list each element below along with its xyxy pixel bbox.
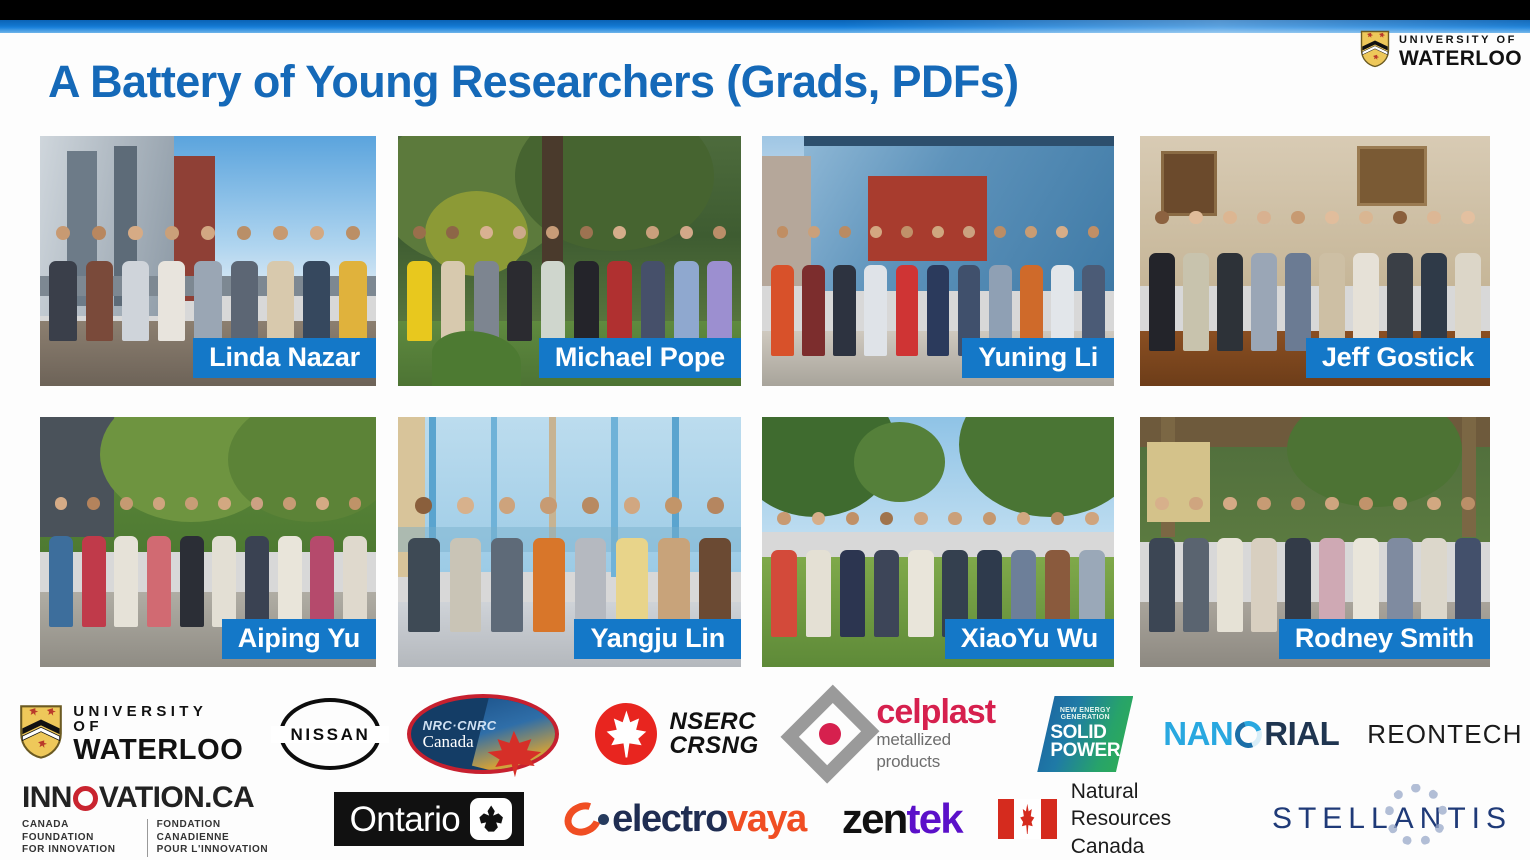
photo-name-label: Rodney Smith bbox=[1279, 619, 1490, 659]
photo-tile-rodney-smith[interactable]: Rodney Smith bbox=[1140, 417, 1490, 667]
photo-tile-yuning-li[interactable]: Yuning Li bbox=[762, 136, 1114, 386]
sponsor-logo-electrovaya: electro vaya bbox=[546, 782, 824, 856]
photo-tile-yangju-lin[interactable]: Yangju Lin bbox=[398, 417, 741, 667]
canada-flag-icon bbox=[998, 799, 1057, 839]
sponsor-solidpower-tagline: NEW ENERGY GENERATION bbox=[1037, 707, 1133, 722]
sponsor-zentek-part2: tek bbox=[907, 795, 962, 842]
waterloo-shield-icon bbox=[19, 704, 63, 765]
sponsor-logo-nanorial: NAN RIAL bbox=[1149, 688, 1353, 780]
photo-tile-linda-nazar[interactable]: Linda Nazar bbox=[40, 136, 376, 386]
sponsor-logo-natural-resources-canada: Natural Resources Canada bbox=[980, 782, 1254, 856]
sponsor-celplast-line1: celplast bbox=[876, 695, 1003, 729]
sponsor-zentek-part1: zen bbox=[842, 795, 907, 842]
sponsor-logo-celplast: celplast metallized products bbox=[779, 688, 1022, 780]
nrc-cnrc-logo-icon: NRC·CNRC Canada bbox=[407, 694, 559, 774]
sponsor-ontario-label: Ontario bbox=[350, 802, 461, 837]
sponsor-nissan-label: NISSAN bbox=[291, 725, 371, 745]
slide: A Battery of Young Researchers (Grads, P… bbox=[0, 0, 1530, 860]
sponsor-logo-ontario: Ontario bbox=[312, 782, 547, 856]
sponsor-electrovaya-part2: vaya bbox=[727, 798, 806, 841]
photo-name-label: Yangju Lin bbox=[574, 619, 741, 659]
sponsor-nanorial-part2: RIAL bbox=[1264, 715, 1339, 753]
sponsor-innovation-top-b: VATION.CA bbox=[99, 781, 254, 815]
photo-tile-xiaoyu-wu[interactable]: XiaoYu Wu bbox=[762, 417, 1114, 667]
photo-name-label: XiaoYu Wu bbox=[945, 619, 1114, 659]
sponsor-innovation-sub-en-1: CANADA FOUNDATION bbox=[22, 819, 138, 844]
sponsor-innovation-sub-en-2: FOR INNOVATION bbox=[22, 844, 138, 857]
sponsor-logo-innovation-ca: INN VATION.CA CANADA FOUNDATION FOR INNO… bbox=[0, 782, 312, 856]
sponsor-innovation-top-a: INN bbox=[22, 781, 72, 815]
sponsor-nrcan-line2: Canada bbox=[1071, 833, 1236, 860]
sponsor-logo-uwaterloo: UNIVERSITY OF WATERLOO bbox=[0, 688, 269, 780]
nanorial-circle-icon bbox=[1231, 716, 1267, 752]
sponsor-innovation-sub-fr-1: FONDATION CANADIENNE bbox=[157, 819, 290, 844]
sponsor-solidpower-line2: POWER bbox=[1050, 742, 1120, 761]
divider bbox=[147, 819, 148, 857]
sponsor-logo-reontech: REONTECH bbox=[1353, 688, 1530, 780]
photo-name-label: Jeff Gostick bbox=[1306, 338, 1490, 378]
sponsor-logo-nserc: NSERC CRSNG bbox=[575, 688, 778, 780]
photo-tile-jeff-gostick[interactable]: Jeff Gostick bbox=[1140, 136, 1490, 386]
electrovaya-swirl-icon bbox=[564, 799, 610, 839]
photo-name-label: Yuning Li bbox=[962, 338, 1114, 378]
photo-tile-michael-pope[interactable]: Michael Pope bbox=[398, 136, 741, 386]
solid-power-hexagon-icon: NEW ENERGY GENERATION SOLID POWER bbox=[1037, 696, 1133, 772]
sponsor-electrovaya-part1: electro bbox=[612, 798, 727, 841]
photo-name-label: Michael Pope bbox=[539, 338, 741, 378]
sponsor-nrc-line1: NRC·CNRC bbox=[423, 718, 497, 733]
sponsor-nserc-line1: NSERC bbox=[669, 710, 758, 734]
sponsor-logo-zentek: zentek bbox=[824, 782, 980, 856]
sponsor-nanorial-part1: NAN bbox=[1163, 715, 1233, 753]
photo-name-label: Aiping Yu bbox=[222, 619, 376, 659]
photo-name-label: Linda Nazar bbox=[193, 338, 376, 378]
nissan-logo-icon: NISSAN bbox=[269, 696, 391, 772]
sponsor-logo-nrc-cnrc: NRC·CNRC Canada bbox=[391, 688, 575, 780]
sponsor-logo-solid-power: NEW ENERGY GENERATION SOLID POWER bbox=[1021, 688, 1149, 780]
photo-tile-aiping-yu[interactable]: Aiping Yu bbox=[40, 417, 376, 667]
sponsor-nserc-line2: CRSNG bbox=[669, 734, 758, 758]
maple-leaf-icon bbox=[595, 703, 657, 765]
sponsor-nrcan-line1: Natural Resources bbox=[1071, 778, 1236, 833]
sponsor-logo-row-1: UNIVERSITY OF WATERLOO NISSAN NRC·CNRC C… bbox=[0, 688, 1530, 780]
celplast-diamond-icon bbox=[797, 697, 863, 771]
innovation-ring-icon bbox=[73, 786, 98, 811]
sponsor-reontech-label: REONTECH bbox=[1367, 719, 1523, 750]
sponsor-uwaterloo-line2: WATERLOO bbox=[73, 736, 243, 765]
sponsor-innovation-sub-fr-2: POUR L'INNOVATION bbox=[157, 844, 290, 857]
sponsor-logo-row-2: INN VATION.CA CANADA FOUNDATION FOR INNO… bbox=[0, 782, 1530, 856]
sponsor-logo-stellantis: STELLANTIS bbox=[1254, 782, 1530, 856]
sponsor-logo-nissan: NISSAN bbox=[269, 688, 391, 780]
sponsor-uwaterloo-line1: UNIVERSITY OF bbox=[73, 704, 243, 734]
stellantis-halo-icon bbox=[1385, 784, 1447, 846]
sponsor-nrc-line2: Canada bbox=[423, 732, 474, 752]
sponsor-celplast-line2: metallized products bbox=[876, 729, 1003, 773]
trillium-icon bbox=[470, 798, 512, 840]
